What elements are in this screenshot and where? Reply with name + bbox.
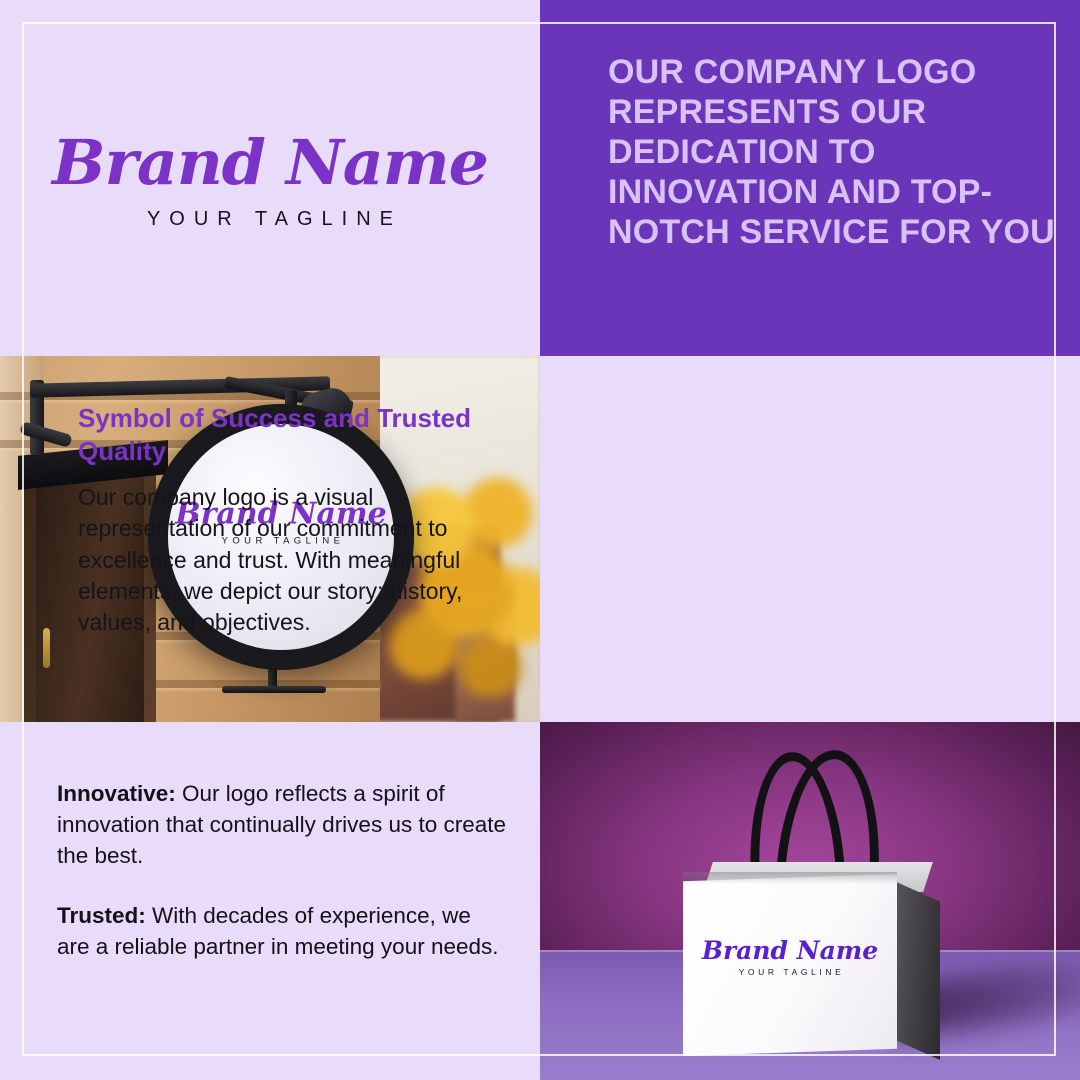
studio-scene: Brand Name YOUR TAGLINE: [540, 722, 1080, 1080]
bag-side-gusset: [892, 880, 940, 1060]
bag-top-shading: [683, 872, 897, 884]
shopping-bag-photo: Brand Name YOUR TAGLINE: [540, 722, 1080, 1080]
headline-text: OUR COMPANY LOGO REPRESENTS OUR DEDICATI…: [608, 52, 1058, 253]
point-item-trusted: Trusted: With decades of experience, we …: [57, 900, 507, 962]
bag-logo-lockup: Brand Name YOUR TAGLINE: [683, 938, 897, 977]
feature-panel: [540, 356, 1080, 722]
feature-body: Our company logo is a visual representat…: [78, 482, 508, 638]
brand-name-text: Brand Name: [0, 132, 540, 194]
sign-lower-bar: [222, 686, 326, 693]
feature-heading: Symbol of Success and Trusted Quality: [78, 402, 478, 469]
logo-panel: Brand Name YOUR TAGLINE: [0, 0, 540, 356]
door-handle: [43, 628, 50, 668]
headline-panel: OUR COMPANY LOGO REPRESENTS OUR DEDICATI…: [540, 0, 1080, 356]
brand-tagline-text: YOUR TAGLINE: [0, 208, 540, 231]
bag-brand-tagline: YOUR TAGLINE: [683, 967, 897, 977]
logo-lockup: Brand Name YOUR TAGLINE: [0, 132, 540, 231]
point-label: Innovative:: [57, 781, 176, 806]
brand-presentation-poster: Brand Name YOUR TAGLINE OUR COMPANY LOGO…: [0, 0, 1080, 1080]
point-item-innovative: Innovative: Our logo reflects a spirit o…: [57, 778, 507, 871]
point-label: Trusted:: [57, 903, 146, 928]
bag-brand-name: Brand Name: [683, 938, 897, 963]
